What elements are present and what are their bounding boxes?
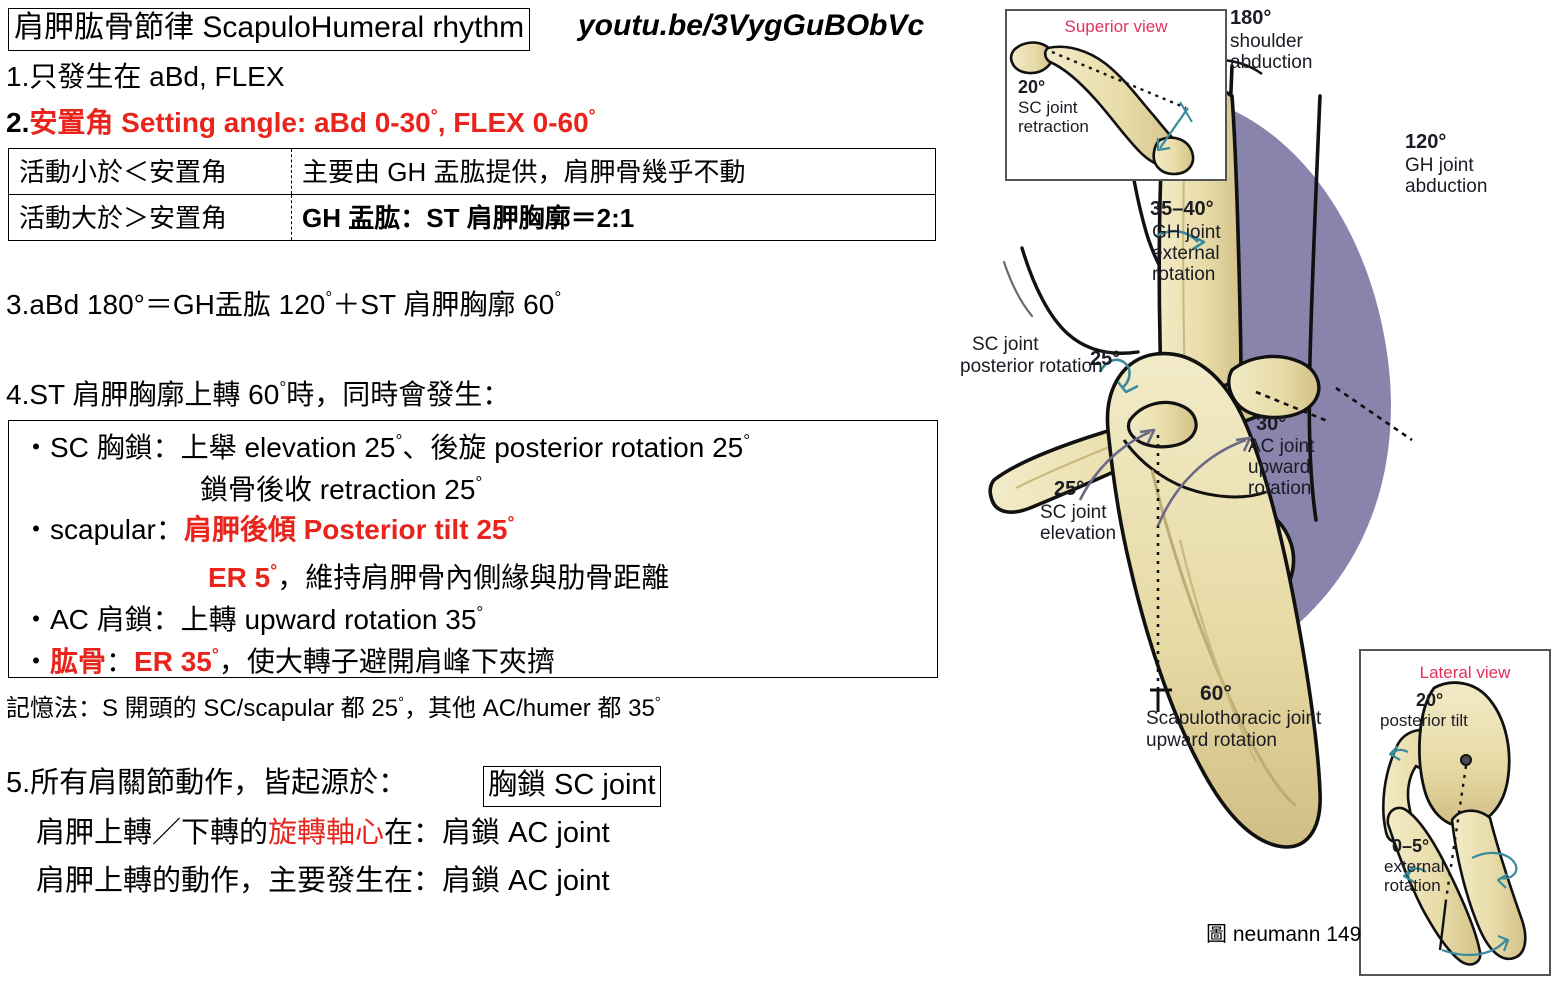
anatomy-figure: 180° shoulder abduction 120° GH joint ab…: [960, 0, 1558, 981]
item3-degree-2: °: [554, 288, 561, 308]
label-gh-external-rotation: 35–40° GH joint external rotation: [1150, 198, 1221, 285]
sc-pr-line1: SC joint: [972, 334, 1039, 355]
sc-elev-value: 25°: [1054, 478, 1084, 500]
table-cell-condition: 活動大於＞安置角: [9, 195, 292, 241]
video-url[interactable]: youtu.be/3VygGuBObVc: [578, 9, 924, 43]
page-title: 肩胛肱骨節律 ScapuloHumeral rhythm: [14, 11, 524, 44]
shoulder-abduction-line1: shoulder: [1230, 31, 1304, 52]
note-item-5-line1: 5.所有肩關節動作，皆起源於：: [6, 766, 407, 801]
notes-panel: 肩胛肱骨節律 ScapuloHumeral rhythm youtu.be/3V…: [0, 0, 960, 981]
st-ur-value: 60°: [1200, 682, 1232, 705]
item3-mid: ＋ST 肩胛胸廓 60: [332, 289, 554, 320]
sc-pr-line2: posterior rotation: [960, 356, 1103, 377]
note-item-4-heading: 4.ST 肩胛胸廓上轉 60°時，同時會發生：: [6, 378, 510, 412]
lateral-inset-value-2: 0–5°: [1392, 836, 1429, 856]
ac-ur-line2: upward: [1248, 457, 1310, 478]
table-row: 活動大於＞安置角 GH 盂肱：ST 肩胛胸廓＝2:1: [9, 195, 936, 241]
note-item-2: 2.安置角 Setting angle: aBd 0-30°, FLEX 0-6…: [6, 106, 596, 140]
table-cell-result: 主要由 GH 盂肱提供，肩胛骨幾乎不動: [292, 149, 936, 195]
setting-angle-table: 活動小於＜安置角 主要由 GH 盂肱提供，肩胛骨幾乎不動 活動大於＞安置角 GH…: [8, 148, 936, 241]
sc-elev-line2: elevation: [1040, 523, 1116, 544]
sc-joint-box: 胸鎖 SC joint: [483, 766, 661, 807]
shoulder-complex-diagram: 180° shoulder abduction 120° GH joint ab…: [960, 0, 1558, 981]
superior-view-title: Superior view: [1065, 17, 1169, 36]
superior-inset-label-line2: retraction: [1018, 117, 1089, 136]
page-title-box: 肩胛肱骨節律 ScapuloHumeral rhythm: [8, 8, 530, 51]
memory-note: 記憶法：S 開頭的 SC/scapular 都 25°，其他 AC/humer …: [6, 688, 661, 723]
sc-elev-line1: SC joint: [1040, 502, 1107, 523]
st-ur-line2: upward rotation: [1146, 730, 1277, 751]
table-row: 活動小於＜安置角 主要由 GH 盂肱提供，肩胛骨幾乎不動: [9, 149, 936, 195]
superior-inset-value: 20°: [1018, 77, 1045, 97]
note-item-5-line3: 肩胛上轉的動作，主要發生在：肩鎖 AC joint: [36, 864, 610, 899]
sc-joint-label: 胸鎖 SC joint: [488, 769, 656, 801]
item2-degree-1: °: [431, 106, 438, 126]
bullet-ac: ・AC 肩鎖：上轉 upward rotation 35°: [22, 598, 483, 638]
st-ur-line1: Scapulothoracic joint: [1146, 708, 1322, 729]
gh-er-line1: GH joint: [1152, 222, 1221, 243]
note-item-3: 3.aBd 180°＝GH盂肱 120°＋ST 肩胛胸廓 60°: [6, 288, 561, 322]
superior-inset-label-line1: SC joint: [1018, 98, 1078, 117]
gh-abduction-line1: GH joint: [1405, 155, 1474, 176]
table-cell-condition: 活動小於＜安置角: [9, 149, 292, 195]
acromion: [1229, 356, 1319, 417]
note-item-1: 1.只發生在 aBd, FLEX: [6, 60, 285, 94]
item2-red-mid: , FLEX 0-60: [438, 107, 589, 138]
sc-pr-value: 25°: [1090, 348, 1120, 370]
item3-prefix: 3.aBd 180°＝GH盂肱 120: [6, 289, 325, 320]
lateral-inset-label-2-line1: external: [1384, 857, 1444, 876]
figure-credit: 圖 neumann 149: [1206, 918, 1361, 948]
bullet-sc-line2: 鎖骨後收 retraction 25°: [200, 468, 482, 508]
bullet-sc-line1: ・SC 胸鎖：上舉 elevation 25°、後旋 posterior rot…: [22, 426, 750, 466]
bullet-scapular-line2: ER 5°，維持肩胛骨內側緣與肋骨距離: [208, 556, 669, 596]
gh-abduction-value: 120°: [1405, 131, 1446, 153]
ac-ur-value: 30°: [1256, 413, 1286, 435]
lateral-inset-label-1: posterior tilt: [1380, 711, 1468, 730]
shoulder-abduction-line2: abduction: [1230, 52, 1312, 73]
lateral-inset-label-2-line2: rotation: [1384, 876, 1441, 895]
gh-abduction-line2: abduction: [1405, 176, 1487, 197]
shoulder-abduction-value: 180°: [1230, 7, 1271, 29]
note-item-5-line2: 肩胛上轉／下轉的旋轉軸心在：肩鎖 AC joint: [36, 816, 610, 851]
item4-heading-prefix: 4.ST 肩胛胸廓上轉 60: [6, 379, 279, 410]
superior-view-inset: Superior view 20° SC joint retraction: [1006, 10, 1226, 180]
lateral-inset-value-1: 20°: [1416, 690, 1443, 710]
ac-ur-line3: rotation: [1248, 478, 1311, 499]
item2-number: 2.: [6, 107, 29, 138]
item2-degree-2: °: [589, 106, 596, 126]
lateral-view-title: Lateral view: [1420, 663, 1511, 682]
item4-heading-suffix: 時，同時會發生：: [286, 379, 510, 410]
gh-er-line2: external: [1152, 243, 1220, 264]
lateral-view-inset: Lateral view 20° posterior tilt 0–5° ext…: [1360, 650, 1550, 975]
item2-red-text: 安置角 Setting angle: aBd 0-30: [29, 107, 430, 138]
ac-ur-line1: AC joint: [1248, 436, 1315, 457]
bullet-scapular-line1: ・scapular：肩胛後傾 Posterior tilt 25°: [22, 508, 514, 548]
gh-er-line3: rotation: [1152, 264, 1215, 285]
bullet-humerus: ・肱骨：ER 35°，使大轉子避開肩峰下夾擠: [22, 640, 555, 680]
table-cell-result: GH 盂肱：ST 肩胛胸廓＝2:1: [292, 195, 936, 241]
gh-er-value: 35–40°: [1150, 198, 1214, 220]
